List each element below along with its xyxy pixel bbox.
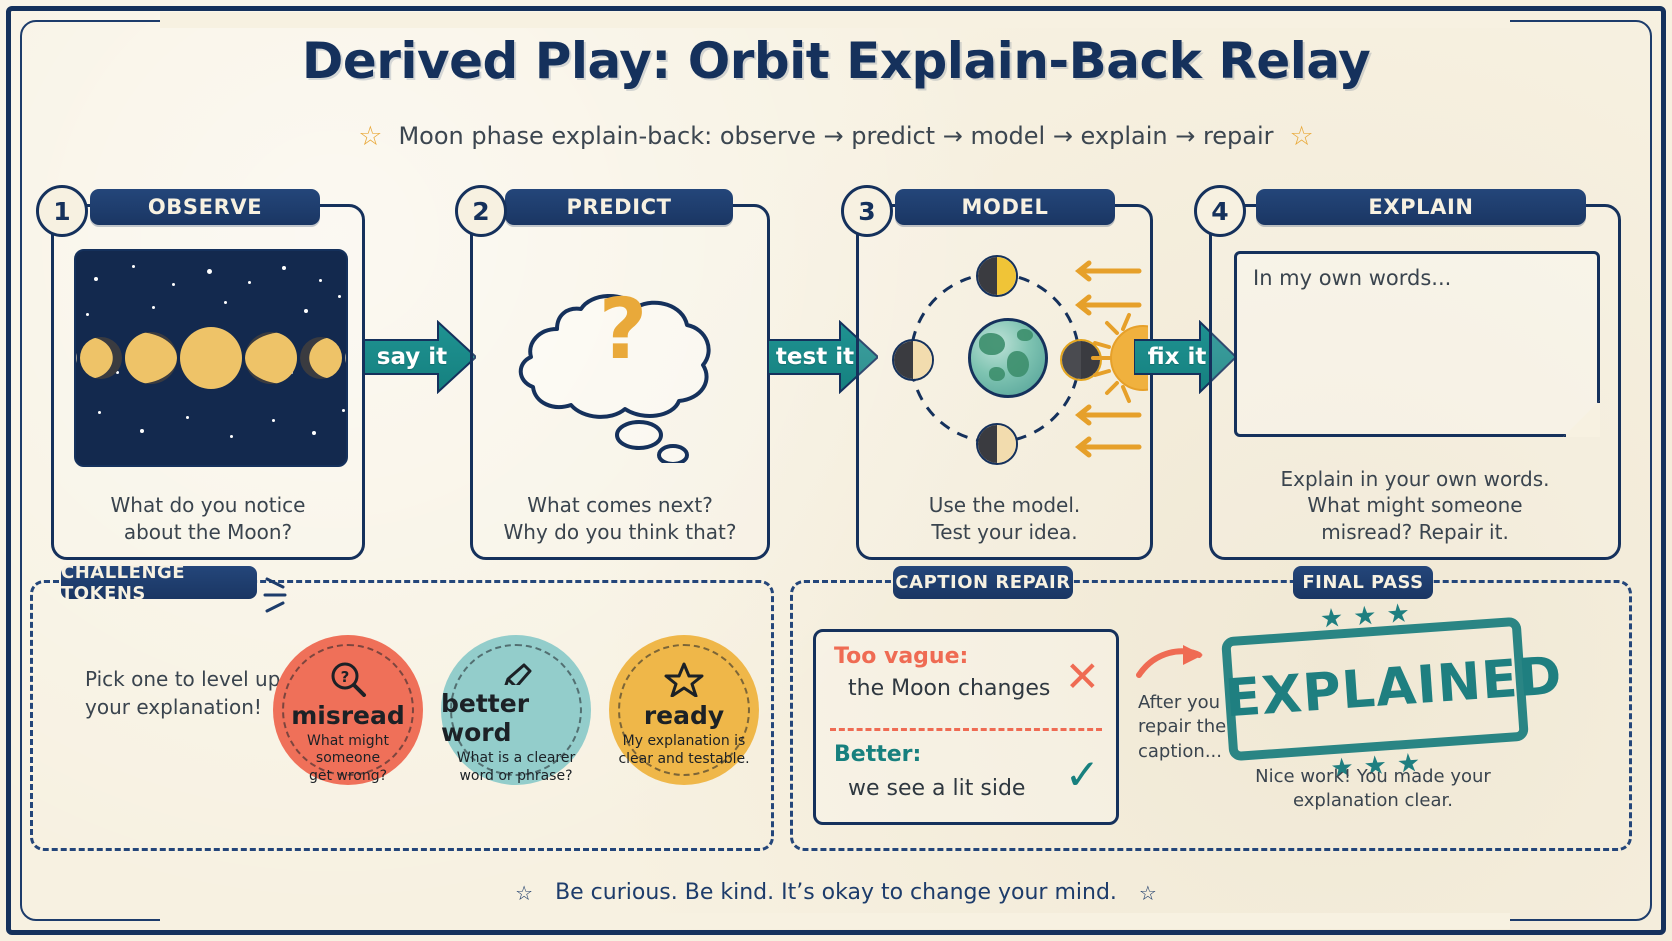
moon-phase-6 xyxy=(300,337,342,379)
pencil-icon xyxy=(496,661,536,685)
repair-divider xyxy=(830,728,1102,731)
curved-arrow-icon xyxy=(1133,641,1213,687)
moon-phase-full xyxy=(180,327,242,389)
caption-repair-card: Too vague: the Moon changes ✕ Better: we… xyxy=(813,629,1119,825)
final-pass-badge: FINAL PASS xyxy=(1293,566,1433,599)
question-mark-icon: ? xyxy=(599,280,648,378)
poster-background: Derived Play: Orbit Explain-Back Relay ☆… xyxy=(0,0,1672,941)
moon-phase-7 xyxy=(345,345,348,371)
caption-repair-badge: CAPTION REPAIR xyxy=(893,566,1073,599)
step-label-observe: OBSERVE xyxy=(90,189,320,225)
connector-label-test-it: test it xyxy=(768,344,878,370)
caption-repair-panel: CAPTION REPAIR FINAL PASS Too vague: the… xyxy=(790,580,1632,851)
challenge-tokens-hint: Pick one to level up your explanation! xyxy=(85,665,295,721)
connector-label-say-it: say it xyxy=(364,344,476,370)
moon-phase-sequence xyxy=(76,327,346,389)
final-pass-caption: Nice work! You made your explanation cle… xyxy=(1203,765,1543,814)
step-label-explain: EXPLAIN xyxy=(1256,189,1586,225)
step-number-badge: 2 xyxy=(455,185,507,237)
explain-note-sheet[interactable]: In my own words... xyxy=(1234,251,1600,437)
too-vague-label: Too vague: xyxy=(834,644,968,669)
check-icon: ✓ xyxy=(1065,750,1100,799)
step-caption-predict: What comes next? Why do you think that? xyxy=(483,492,757,545)
moon-phases-panel xyxy=(74,249,348,467)
step-caption-observe: What do you notice about the Moon? xyxy=(64,492,352,545)
steps-strip: 1 OBSERVE xyxy=(46,190,1626,560)
step-card-model[interactable]: 3 MODEL xyxy=(856,204,1153,560)
star-icon-right: ☆ xyxy=(1290,123,1314,150)
step-number-badge: 1 xyxy=(36,185,88,237)
step-card-explain[interactable]: 4 EXPLAIN In my own words... Explain in … xyxy=(1209,204,1621,560)
page-title: Derived Play: Orbit Explain-Back Relay xyxy=(0,32,1672,90)
thought-bubble-icon: ? xyxy=(487,253,759,463)
moon-phase-3 xyxy=(125,332,177,384)
step-number-badge: 3 xyxy=(841,185,893,237)
better-text: we see a lit side xyxy=(848,776,1025,801)
star-icon xyxy=(664,661,704,697)
magnifier-question-icon: ? xyxy=(328,661,368,697)
spark-lines-icon xyxy=(263,575,303,619)
challenge-tokens-panel: CHALLENGE TOKENS Pick one to level up yo… xyxy=(30,580,774,851)
svg-text:?: ? xyxy=(341,668,350,686)
star-icon-footer-right: ☆ xyxy=(1139,881,1157,905)
cross-icon: ✕ xyxy=(1065,652,1100,701)
after-repair-text: After you repair the caption... xyxy=(1138,691,1230,764)
moon-phase-5 xyxy=(245,332,297,384)
step-number-badge: 4 xyxy=(1194,185,1246,237)
challenge-tokens-badge: CHALLENGE TOKENS xyxy=(61,566,257,599)
frame-gap-top xyxy=(160,12,1510,28)
step-card-observe[interactable]: 1 OBSERVE xyxy=(51,204,365,560)
step-caption-model: Use the model. Test your idea. xyxy=(869,492,1140,545)
step-card-predict[interactable]: 2 PREDICT ? What comes next? Why do you … xyxy=(470,204,770,560)
token-misread[interactable]: ? misread What might someone get wrong? xyxy=(273,635,423,785)
star-icon-left: ☆ xyxy=(358,123,382,150)
subtitle-row: ☆ Moon phase explain-back: observe → pre… xyxy=(0,122,1672,150)
token-ready[interactable]: ready My explanation is clear and testab… xyxy=(609,635,759,785)
token-better-word[interactable]: better word What is a clearer word or ph… xyxy=(441,635,591,785)
note-placeholder-text: In my own words... xyxy=(1253,266,1451,290)
footer-text: Be curious. Be kind. It’s okay to change… xyxy=(555,880,1117,905)
too-vague-text: the Moon changes xyxy=(848,676,1050,701)
note-corner-fold xyxy=(1563,400,1600,437)
connector-label-fix-it: fix it xyxy=(1134,344,1236,370)
subtitle-text: Moon phase explain-back: observe → predi… xyxy=(398,122,1273,150)
step-label-model: MODEL xyxy=(895,189,1115,225)
explained-stamp: ★★★ EXPLAINED ★★★ xyxy=(1221,617,1529,762)
step-caption-explain: Explain in your own words. What might so… xyxy=(1222,466,1608,545)
frame-gap-bottom xyxy=(160,913,1510,929)
moon-phase-1 xyxy=(74,345,77,371)
orbit-model-icon xyxy=(867,247,1148,469)
star-icon-footer-left: ☆ xyxy=(515,881,533,905)
connector-say-it: say it xyxy=(364,320,476,394)
footer: ☆ Be curious. Be kind. It’s okay to chan… xyxy=(0,880,1672,905)
moon-phase-2 xyxy=(80,337,122,379)
better-label: Better: xyxy=(834,742,921,767)
step-label-predict: PREDICT xyxy=(505,189,733,225)
